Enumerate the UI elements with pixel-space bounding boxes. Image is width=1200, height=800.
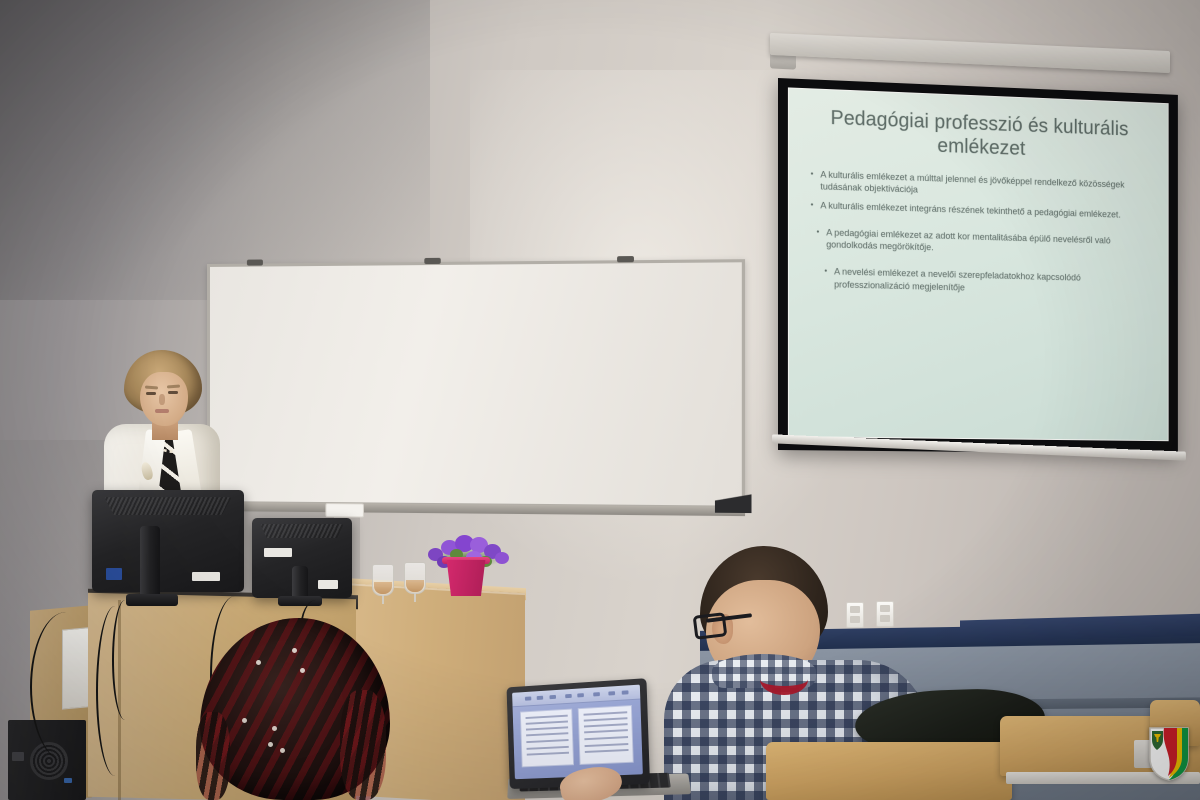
bullet-marker-icon: • <box>817 226 820 250</box>
laptop-document-page-right <box>578 705 634 765</box>
wine-glass-liquid <box>406 580 424 592</box>
hair-braid <box>340 690 386 800</box>
tower-port <box>12 752 24 761</box>
flower-bloom <box>495 552 509 564</box>
slide-bullet: • A nevelési emlékezet a nevelői szerepf… <box>824 266 1152 298</box>
eyeglasses-lens <box>693 612 728 640</box>
monitor-left-stand-base <box>126 594 178 606</box>
shield-emblem-logo <box>1148 726 1190 782</box>
slide-bullet-text: A kulturális emlékezet a múlttal jelenne… <box>820 168 1153 203</box>
bullet-marker-icon: • <box>824 266 827 290</box>
monitor-eu-sticker <box>106 568 122 580</box>
monitor-label-sticker <box>192 572 220 581</box>
hair-bead <box>242 718 247 723</box>
hair-braid <box>196 712 230 800</box>
bullet-marker-icon: • <box>811 199 814 211</box>
projection-screen-frame: Pedagógiai professzió és kulturális emlé… <box>778 78 1178 454</box>
presenter-nose <box>159 394 165 405</box>
slide-bullet-text: A nevelési emlékezet a nevelői szerepfel… <box>834 266 1153 298</box>
wall-socket <box>876 601 894 627</box>
hair-bead <box>292 648 297 653</box>
flower-pot <box>444 560 488 596</box>
lecture-hall-photo: Pedagógiai professzió és kulturális emlé… <box>0 0 1200 800</box>
power-cable <box>30 612 102 762</box>
auditorium-chair[interactable] <box>766 742 1012 800</box>
laptop-screen <box>512 685 643 780</box>
monitor-vent <box>260 524 344 538</box>
monitor-vent <box>104 497 232 515</box>
presenter-mouth <box>155 409 169 413</box>
whiteboard-marker <box>325 503 364 518</box>
hair-bead <box>268 742 273 747</box>
ceiling-shadow <box>0 0 430 300</box>
socket-slot <box>880 605 890 612</box>
monitor-left[interactable] <box>92 490 244 592</box>
laptop-app-toolbar <box>512 685 640 708</box>
slide-canvas: Pedagógiai professzió és kulturális emlé… <box>788 87 1169 441</box>
slide-bullet-text: A kulturális emlékezet integráns részéne… <box>820 199 1120 220</box>
wine-glass-stem <box>414 593 416 602</box>
wine-glass-stem <box>382 595 384 604</box>
attendee-red-lanyard <box>760 664 808 695</box>
laptop-document-page-left <box>520 708 574 767</box>
socket-slot <box>850 616 860 623</box>
whiteboard-clip <box>424 258 440 264</box>
slide-bullet: • A pedagógiai emlékezet az adott kor me… <box>817 226 1153 259</box>
hair-bead <box>280 748 285 753</box>
signal-cable <box>112 600 138 720</box>
whiteboard-clip <box>617 256 634 262</box>
presenter-eye <box>146 392 156 395</box>
whiteboard-surface <box>207 259 745 509</box>
hair-bead <box>272 726 277 731</box>
tower-indicator-led <box>64 778 72 783</box>
wine-glass-liquid <box>374 582 392 594</box>
slide-bullet: • A kulturális emlékezet a múlttal jelen… <box>811 168 1153 203</box>
projection-screen: Pedagógiai professzió és kulturális emlé… <box>778 78 1178 454</box>
socket-slot <box>850 606 860 613</box>
slide-bullet: • A kulturális emlékezet integráns részé… <box>811 199 1153 222</box>
monitor-left-stand-neck <box>140 526 160 598</box>
wine-glass <box>404 562 426 594</box>
monitor-label-sticker <box>264 548 292 557</box>
presenter-eye <box>168 391 178 394</box>
hair-bead <box>300 668 305 673</box>
wall-socket <box>846 602 864 628</box>
hair-bead <box>256 660 261 665</box>
wine-glass <box>372 564 394 596</box>
monitor-right-stand-neck <box>292 566 308 600</box>
slide-body: • A kulturális emlékezet a múlttal jelen… <box>789 153 1168 298</box>
whiteboard <box>207 259 745 509</box>
slide-bullet-text: A pedagógiai emlékezet az adott kor ment… <box>826 227 1153 260</box>
monitor-label-sticker <box>318 580 338 589</box>
whiteboard-clip <box>247 259 263 265</box>
socket-slot <box>880 615 890 622</box>
bullet-marker-icon: • <box>811 168 814 192</box>
